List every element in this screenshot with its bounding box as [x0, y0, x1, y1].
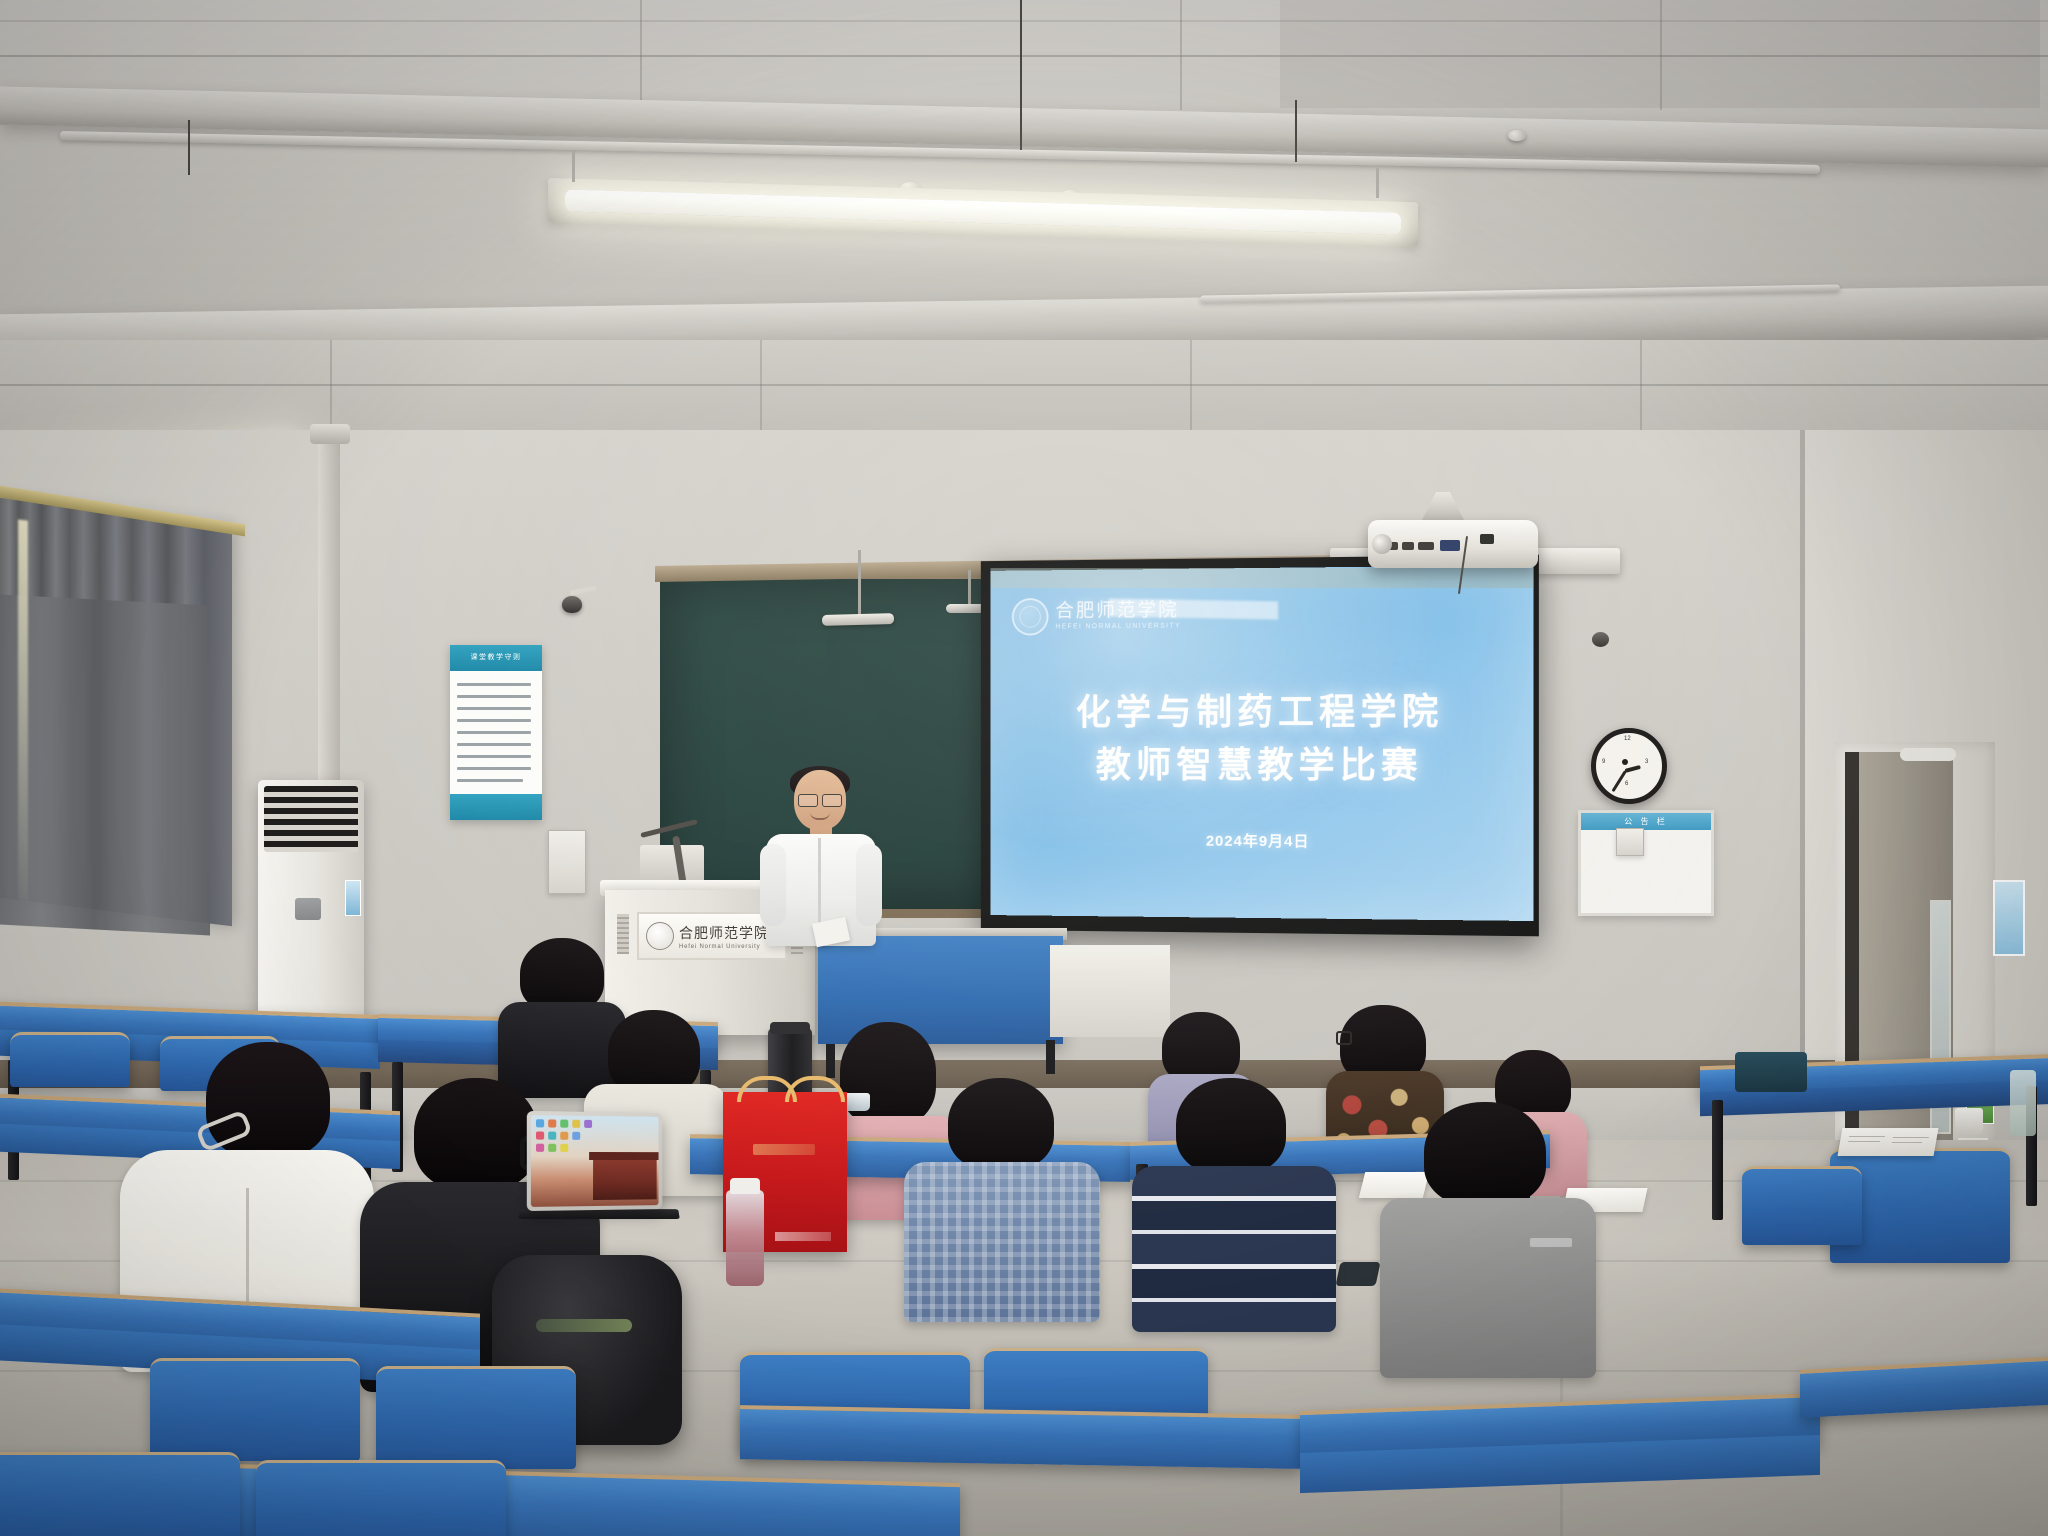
water-bottle — [726, 1190, 764, 1286]
ac-vent-grill — [264, 786, 358, 852]
backpack-logo-strip — [536, 1319, 632, 1332]
person-hair — [1176, 1078, 1286, 1174]
gift-bag-logo — [753, 1144, 815, 1155]
podium-plaque-english: Hefei Normal University — [679, 944, 769, 950]
board-light-head-1 — [822, 613, 894, 626]
security-camera-right — [1592, 632, 1609, 647]
water-bottle-cap — [730, 1178, 760, 1194]
security-camera — [562, 596, 582, 613]
wall-switch-right[interactable] — [1616, 828, 1644, 856]
phone-on-desk — [1335, 1262, 1380, 1286]
chair-rear-left-1[interactable] — [10, 1032, 130, 1087]
chair-foreground-mid[interactable] — [256, 1460, 506, 1536]
trash-bin — [1735, 1052, 1807, 1092]
thermos-cap — [770, 1022, 810, 1034]
slide-title-line1: 化学与制药工程学院 — [991, 685, 1534, 739]
cup-on-desk — [1955, 1108, 1983, 1134]
podium-plaque-chinese: 合肥师范学院 — [679, 923, 769, 943]
chair-front-left-2[interactable] — [376, 1366, 576, 1469]
wall-poster-rules: 课堂教学守则 — [450, 645, 542, 820]
cabinet-leg — [826, 1044, 835, 1078]
classroom-photo: 课堂教学守则 合肥师范学院 HEFEI NORMAL UNIVERSITY — [0, 0, 2048, 1536]
chair-rear-right-2[interactable] — [1742, 1166, 1862, 1245]
projector-lens — [1372, 534, 1392, 554]
screen-light-reflection — [1109, 599, 1278, 620]
slide-title-line2: 教师智慧教学比赛 — [991, 739, 1534, 793]
notice-board: 公 告 栏 — [1578, 810, 1714, 916]
person-hair — [1424, 1102, 1546, 1206]
window-curtain-left-lower[interactable] — [0, 594, 210, 935]
board-light-arm-1 — [858, 550, 861, 618]
clock-minute-hand — [1611, 770, 1626, 792]
poster-header: 课堂教学守则 — [450, 645, 542, 671]
board-light-arm-2 — [968, 570, 971, 608]
projector[interactable] — [1368, 520, 1538, 568]
person-torso — [1380, 1198, 1596, 1378]
ac-brand-logo — [295, 898, 321, 920]
laptop-screen — [527, 1111, 663, 1211]
door-closer — [1900, 748, 1956, 761]
smoke-detector-3 — [1508, 130, 1526, 141]
light-hanger — [572, 150, 575, 182]
laptop-wallpaper — [531, 1115, 659, 1207]
ac-energy-label — [345, 880, 361, 916]
screen-top-shadow — [991, 568, 1534, 588]
logo-english-name: HEFEI NORMAL UNIVERSITY — [1055, 623, 1181, 631]
person-torso — [904, 1162, 1100, 1322]
tee-brand-label — [1530, 1238, 1572, 1247]
open-book — [1838, 1128, 1939, 1156]
wall-control-box[interactable] — [548, 830, 586, 894]
cabinet-leg — [1046, 1040, 1055, 1074]
notice-board-header: 公 告 栏 — [1581, 813, 1711, 830]
wall-poster-right — [1993, 880, 2025, 956]
slide-date: 2024年9月4日 — [991, 829, 1534, 853]
hanging-wire-1 — [188, 120, 190, 175]
light-hanger — [1376, 168, 1379, 198]
wallpaper-building — [593, 1156, 657, 1200]
person-hair — [520, 938, 604, 1012]
ac-pipe-cover — [318, 430, 340, 782]
papers-on-desk — [1359, 1172, 1429, 1198]
presenter-arm-right — [856, 844, 882, 926]
chair-front-left-1[interactable] — [150, 1358, 360, 1461]
curtain-light-gap — [18, 519, 28, 900]
gift-bag-footer-logo — [775, 1232, 831, 1241]
person-hair — [414, 1078, 538, 1190]
university-seal-icon — [1012, 598, 1049, 636]
desk-leg — [1712, 1100, 1723, 1220]
podium-seal-icon — [646, 922, 674, 950]
person-torso — [1132, 1166, 1336, 1332]
chair-foreground-left[interactable] — [0, 1452, 240, 1536]
side-cabinet-panel — [1050, 945, 1170, 1037]
person-hair — [948, 1078, 1054, 1170]
side-cabinet[interactable] — [818, 936, 1063, 1044]
presenter-glasses-icon — [798, 794, 842, 805]
hanging-wire-2 — [1020, 0, 1022, 150]
person-glasses-icon — [1336, 1031, 1352, 1045]
poster-footer — [450, 794, 542, 820]
slide-title-block: 化学与制药工程学院 教师智慧教学比赛 — [991, 685, 1534, 793]
clock-hour-hand — [1624, 765, 1640, 773]
desk-front-center — [740, 1405, 1300, 1469]
ac-pipe-elbow — [310, 424, 350, 444]
presenter-arm-left — [760, 844, 786, 926]
glass-bottle — [2010, 1070, 2036, 1136]
hanging-wire-3 — [1295, 100, 1297, 162]
wall-clock: 12 3 6 9 — [1591, 728, 1667, 804]
